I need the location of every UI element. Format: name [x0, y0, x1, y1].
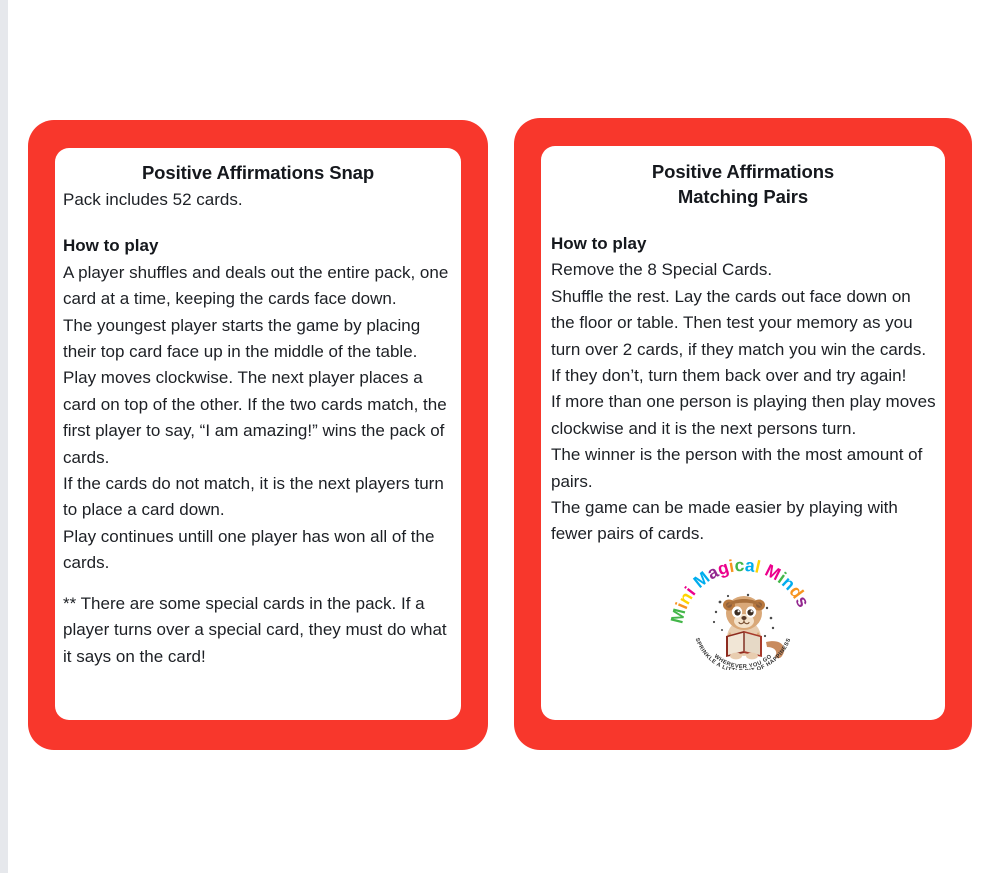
title-spacer — [547, 211, 939, 231]
how-to-play-instructions-snap: A player shuffles and deals out the enti… — [61, 260, 455, 577]
note-spacer — [61, 577, 455, 591]
instruction-card-snap: Positive Affirmations Snap Pack includes… — [28, 120, 488, 750]
cards-canvas: Positive Affirmations Snap Pack includes… — [0, 0, 992, 873]
card-inner-panel-matching-pairs: Positive Affirmations Matching Pairs How… — [541, 146, 945, 720]
special-cards-note-snap: ** There are some special cards in the p… — [61, 591, 455, 670]
mini-magical-minds-logo: Mini Magical Minds SPRINKLE A LITTLE BIT… — [670, 558, 816, 670]
instruction-card-matching-pairs: Positive Affirmations Matching Pairs How… — [514, 118, 972, 750]
card-title-snap: Positive Affirmations Snap — [61, 160, 455, 185]
card-title-matching-pairs: Positive Affirmations Matching Pairs — [547, 159, 939, 209]
how-to-play-heading-matching-pairs: How to play — [547, 231, 939, 257]
card-inner-panel-snap: Positive Affirmations Snap Pack includes… — [55, 148, 461, 720]
how-to-play-heading-snap: How to play — [61, 233, 455, 259]
pack-contents-line: Pack includes 52 cards. — [61, 187, 455, 213]
meerkat-mascot-icon — [723, 596, 784, 659]
how-to-play-instructions-matching-pairs: Remove the 8 Special Cards. Shuffle the … — [547, 257, 939, 547]
paragraph-spacer — [61, 213, 455, 233]
